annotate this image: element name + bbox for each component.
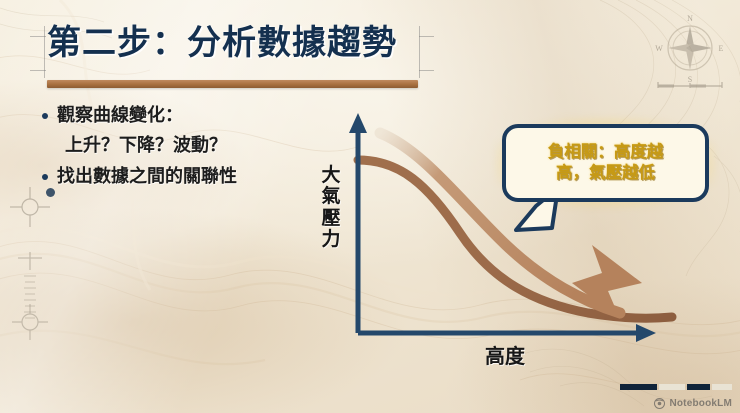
survey-dot-marker bbox=[46, 188, 55, 197]
title-guide-top-left bbox=[30, 36, 46, 37]
callout-line-1: 負相關：高度越 bbox=[548, 142, 664, 163]
callout-bubble: 負相關：高度越 高，氣壓越低 bbox=[502, 124, 709, 202]
watermark: NotebookLM bbox=[654, 398, 732, 409]
title-underline-bar bbox=[47, 80, 418, 88]
scalebar-segment bbox=[687, 384, 711, 390]
page-title: 第二步：分析數據趨勢 bbox=[47, 22, 427, 65]
chart-y-axis-label: 大 氣 壓 力 bbox=[318, 165, 344, 250]
title-guide-bottom-left bbox=[30, 70, 46, 71]
bullet-subtext: 上升？下降？波動？ bbox=[65, 133, 332, 157]
svg-text:S: S bbox=[688, 75, 692, 84]
callout-text: 負相關：高度越 高，氣壓越低 bbox=[540, 142, 672, 184]
svg-text:W: W bbox=[655, 44, 663, 53]
page-title-text: 第二步：分析數據趨勢 bbox=[47, 22, 427, 65]
bullet-dot-icon bbox=[42, 174, 48, 180]
bullet-dot-icon bbox=[42, 113, 48, 119]
callout-line-2: 高，氣壓越低 bbox=[548, 163, 664, 184]
svg-text:E: E bbox=[719, 44, 724, 53]
y-axis-char: 壓 bbox=[318, 208, 344, 229]
callout-body: 負相關：高度越 高，氣壓越低 bbox=[502, 124, 709, 202]
compass-rose-icon: N E S W bbox=[648, 8, 732, 92]
bullet-text: 找出數據之間的關聯性 bbox=[57, 164, 237, 188]
y-axis-char: 力 bbox=[318, 229, 344, 250]
scalebar-segment bbox=[712, 384, 732, 390]
svg-text:N: N bbox=[687, 14, 693, 23]
y-axis-char: 氣 bbox=[318, 186, 344, 207]
bullet-list: 觀察曲線變化： 上升？下降？波動？ 找出數據之間的關聯性 bbox=[42, 103, 332, 194]
watermark-scalebar bbox=[620, 384, 732, 390]
scalebar-segment bbox=[620, 384, 657, 390]
chart-x-axis-arrow-icon bbox=[636, 324, 656, 342]
ruler-tick-icon bbox=[12, 248, 48, 328]
y-axis-char: 大 bbox=[318, 165, 344, 186]
scalebar-segment bbox=[659, 384, 685, 390]
title-guide-bottom-right bbox=[419, 70, 434, 71]
list-item: 找出數據之間的關聯性 bbox=[42, 164, 332, 188]
bullet-text: 觀察曲線變化： bbox=[57, 103, 183, 127]
chart-y-axis-arrow-icon bbox=[349, 113, 367, 133]
chart-x-axis-label: 高度 bbox=[455, 340, 555, 369]
watermark-label: NotebookLM bbox=[669, 398, 732, 409]
list-item: 觀察曲線變化： bbox=[42, 103, 332, 127]
notebooklm-logo-icon bbox=[654, 398, 665, 409]
slide-canvas: 第二步：分析數據趨勢 觀察曲線變化： 上升？下降？波動？ 找出數據之間的關聯性 bbox=[0, 0, 740, 413]
